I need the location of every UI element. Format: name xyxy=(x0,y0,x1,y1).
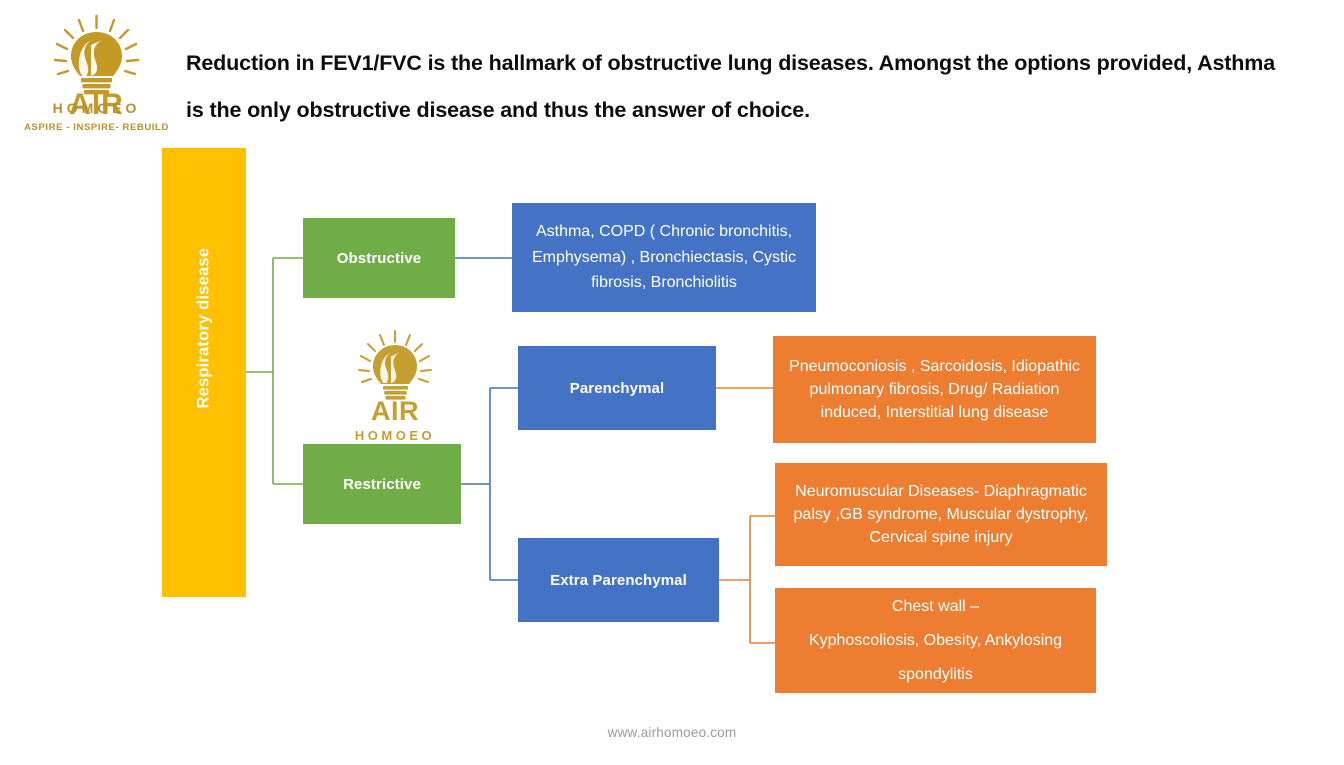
node-label: Obstructive xyxy=(303,250,455,267)
node-obstructive[interactable]: Obstructive xyxy=(303,218,455,298)
leaf-parenchymal-diseases[interactable]: Pneumoconiosis , Sarcoidosis, Idiopathic… xyxy=(773,336,1096,443)
leaf-chest-wall-diseases[interactable]: Chest wall – Kyphoscoliosis, Obesity, An… xyxy=(775,588,1096,693)
slide-canvas: AIR HOMOEO ASPIRE - INSPIRE- REBUILD Red… xyxy=(0,0,1344,765)
leaf-label-line1: Chest wall – xyxy=(892,598,979,615)
watermark-logo-icon: AIR HOMOEO xyxy=(340,328,450,453)
node-parenchymal[interactable]: Parenchymal xyxy=(518,346,716,430)
page-title: Reduction in FEV1/FVC is the hallmark of… xyxy=(186,40,1276,134)
node-label: Respiratory disease xyxy=(195,331,214,415)
leaf-label: Asthma, COPD ( Chronic bronchitis, Emphy… xyxy=(512,219,816,296)
leaf-label: Neuromuscular Diseases- Diaphragmatic pa… xyxy=(775,480,1107,549)
svg-text:AIR: AIR xyxy=(371,396,419,426)
footer-website-url[interactable]: www.airhomoeo.com xyxy=(0,725,1344,740)
leaf-label: Chest wall – Kyphoscoliosis, Obesity, An… xyxy=(775,590,1096,692)
brand-tagline: ASPIRE - INSPIRE- REBUILD xyxy=(24,122,169,133)
leaf-obstructive-diseases[interactable]: Asthma, COPD ( Chronic bronchitis, Emphy… xyxy=(512,203,816,312)
lightbulb-logo-icon: AIR xyxy=(24,10,169,138)
svg-text:HOMOEO: HOMOEO xyxy=(355,428,435,443)
node-extra-parenchymal[interactable]: Extra Parenchymal xyxy=(518,538,719,622)
leaf-neuromuscular-diseases[interactable]: Neuromuscular Diseases- Diaphragmatic pa… xyxy=(775,463,1107,566)
node-label: Extra Parenchymal xyxy=(518,572,719,589)
brand-logo: AIR HOMOEO ASPIRE - INSPIRE- REBUILD xyxy=(24,10,169,138)
node-restrictive[interactable]: Restrictive xyxy=(303,444,461,524)
node-label: Restrictive xyxy=(303,476,461,493)
node-respiratory-disease[interactable]: Respiratory disease xyxy=(162,148,246,597)
brand-subname: HOMOEO xyxy=(24,100,169,116)
node-label: Parenchymal xyxy=(518,380,716,397)
leaf-label-line2: Kyphoscoliosis, Obesity, Ankylosing spon… xyxy=(809,632,1062,683)
leaf-label: Pneumoconiosis , Sarcoidosis, Idiopathic… xyxy=(773,355,1096,424)
